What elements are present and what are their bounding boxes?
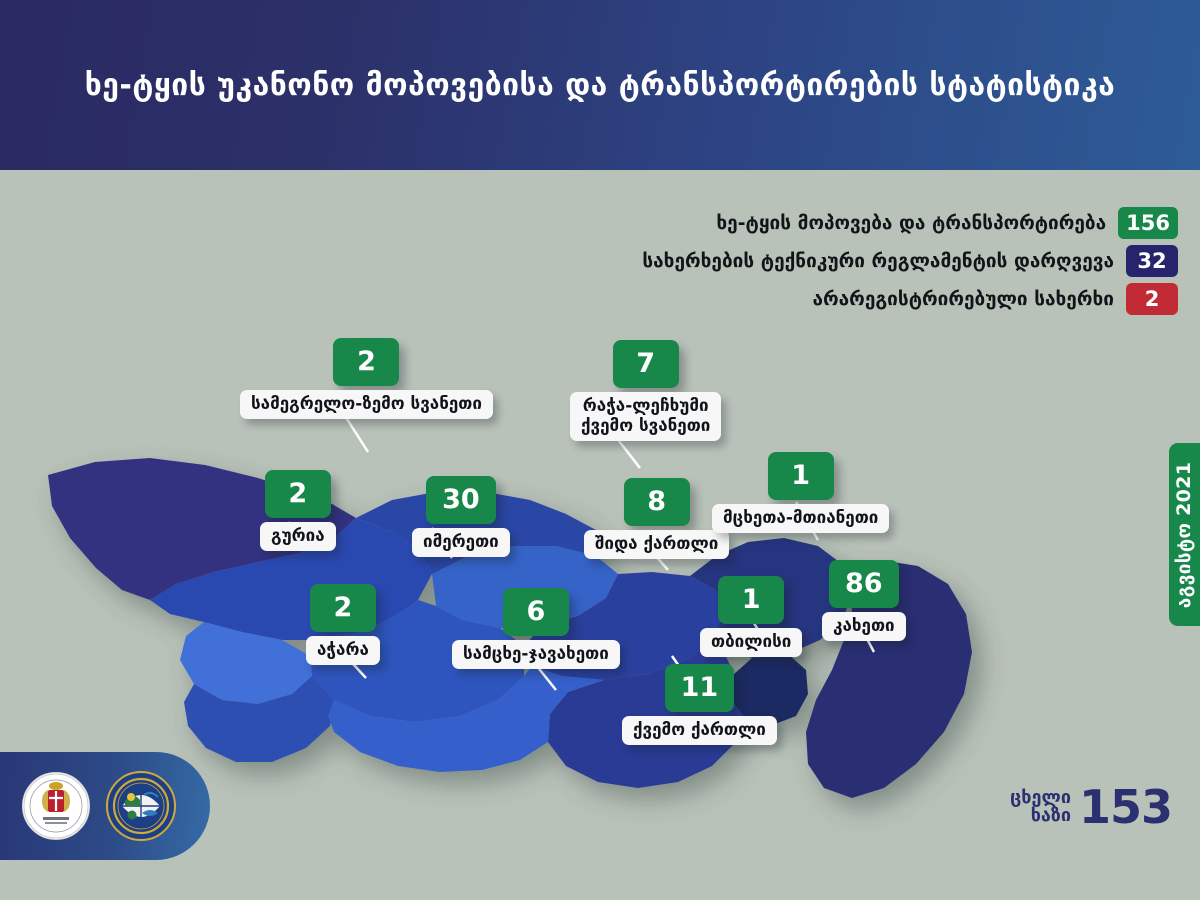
legend-badge: 156 [1118, 207, 1178, 239]
callout-kakheti[interactable]: 86 კახეთი [822, 560, 906, 641]
legend-badge: 32 [1126, 245, 1178, 277]
legend-item-unregistered-sawmill: არარეგისტრირებული სახერხი 2 [813, 283, 1179, 315]
callout-value: 2 [265, 470, 331, 518]
callout-value: 6 [503, 588, 569, 636]
callout-label: შიდა ქართლი [584, 530, 729, 559]
footer-logo-plate [0, 752, 210, 860]
environment-agency-seal-icon [108, 773, 174, 839]
callout-value: 30 [426, 476, 496, 524]
callout-value: 1 [718, 576, 784, 624]
callout-value: 7 [613, 340, 679, 388]
legend-label: სახერხების ტექნიკური რეგლამენტის დარღვევ… [642, 250, 1114, 272]
callout-shida-kartli[interactable]: 8 შიდა ქართლი [584, 478, 729, 559]
callout-label: სამეგრელო-ზემო სვანეთი [240, 390, 493, 419]
callout-label: მცხეთა-მთიანეთი [712, 504, 889, 533]
legend-label: არარეგისტრირებული სახერხი [813, 288, 1115, 310]
callout-kvemo-kartli[interactable]: 11 ქვემო ქართლი [622, 664, 777, 745]
callout-value: 8 [624, 478, 690, 526]
ministry-emblem-icon [22, 772, 90, 840]
callout-label: აჭარა [306, 636, 380, 665]
callout-value: 2 [333, 338, 399, 386]
page-header: ხე-ტყის უკანონო მოპოვებისა და ტრანსპორტი… [0, 0, 1200, 170]
month-tab: აგვისტო 2021 [1169, 443, 1200, 626]
callout-label: იმერეთი [412, 528, 510, 557]
callout-label: რაჭა-ლეჩხუმი ქვემო სვანეთი [570, 392, 721, 441]
callout-imereti[interactable]: 30 იმერეთი [412, 476, 510, 557]
callout-label: თბილისი [700, 628, 802, 657]
hotline-number: 153 [1079, 786, 1172, 828]
hotline-line-2: ხაზი [1031, 807, 1071, 825]
page-title: ხე-ტყის უკანონო მოპოვებისა და ტრანსპორტი… [85, 68, 1116, 103]
callout-label: კახეთი [822, 612, 906, 641]
month-tab-label: აგვისტო 2021 [1174, 461, 1196, 607]
ministry-coat-of-arms-icon [23, 773, 89, 839]
callout-adjara[interactable]: 2 აჭარა [306, 584, 380, 665]
legend-badge: 2 [1126, 283, 1178, 315]
callout-value: 86 [829, 560, 899, 608]
callout-samtskhe-javakheti[interactable]: 6 სამცხე-ჯავახეთი [452, 588, 620, 669]
legend: ხე-ტყის მოპოვება და ტრანსპორტირება 156 ს… [642, 207, 1178, 315]
legend-item-harvest-transport: ხე-ტყის მოპოვება და ტრანსპორტირება 156 [716, 207, 1178, 239]
callout-label: გურია [260, 522, 336, 551]
callout-value: 11 [665, 664, 735, 712]
callout-mtskheta-mtianeti[interactable]: 1 მცხეთა-მთიანეთი [712, 452, 889, 533]
callout-value: 2 [310, 584, 376, 632]
legend-item-sawmill-regulation: სახერხების ტექნიკური რეგლამენტის დარღვევ… [642, 245, 1178, 277]
callout-label: სამცხე-ჯავახეთი [452, 640, 620, 669]
callout-racha-lechkhumi[interactable]: 7 რაჭა-ლეჩხუმი ქვემო სვანეთი [570, 340, 721, 441]
agency-emblem-icon [106, 771, 176, 841]
hotline-words: ცხელი ხაზი [1010, 789, 1071, 826]
callout-tbilisi[interactable]: 1 თბილისი [700, 576, 802, 657]
hotline-block: ცხელი ხაზი 153 [1010, 786, 1172, 828]
callout-label: ქვემო ქართლი [622, 716, 777, 745]
callout-guria[interactable]: 2 გურია [260, 470, 336, 551]
callout-samegrelo-zemo-svaneti[interactable]: 2 სამეგრელო-ზემო სვანეთი [240, 338, 493, 419]
legend-label: ხე-ტყის მოპოვება და ტრანსპორტირება [716, 212, 1106, 234]
callout-value: 1 [768, 452, 834, 500]
